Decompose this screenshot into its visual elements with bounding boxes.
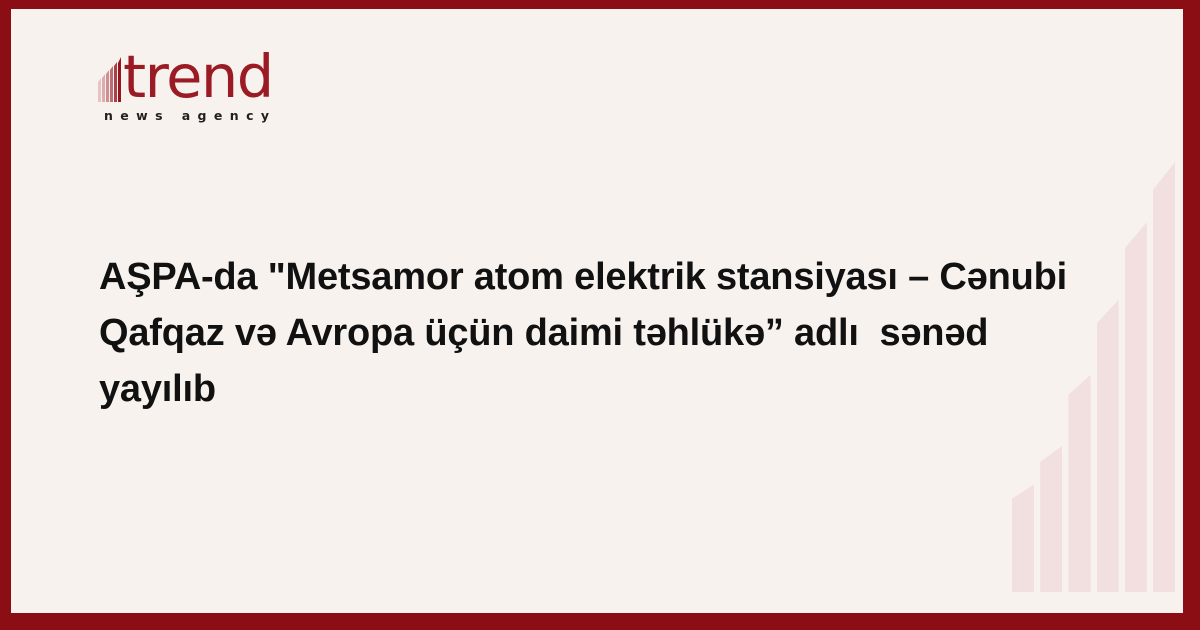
logo-bar-6 — [118, 57, 121, 102]
logo-bar-5 — [114, 62, 117, 102]
logo-bar-4 — [110, 66, 113, 102]
logo-bar-1 — [98, 78, 101, 102]
social-share-card: trend news agency AŞPA-da "Metsamor atom… — [0, 0, 1200, 630]
logo-bars-icon — [98, 57, 121, 102]
logo-wordmark-row: trend — [98, 45, 398, 103]
logo-bar-3 — [106, 70, 109, 102]
card-canvas: trend news agency AŞPA-da "Metsamor atom… — [11, 9, 1183, 613]
watermark-bar-2 — [1040, 446, 1062, 592]
watermark-bar-6 — [1153, 162, 1175, 592]
trend-news-agency-logo[interactable]: trend news agency — [98, 45, 398, 123]
logo-wordmark: trend — [123, 52, 273, 103]
headline-text: AŞPA-da "Metsamor atom elektrik stansiya… — [99, 249, 1099, 417]
logo-tagline: news agency — [104, 108, 398, 123]
watermark-bar-1 — [1012, 485, 1034, 593]
watermark-bar-5 — [1125, 222, 1147, 592]
watermark-bar-4 — [1097, 300, 1119, 592]
logo-bar-2 — [102, 74, 105, 102]
